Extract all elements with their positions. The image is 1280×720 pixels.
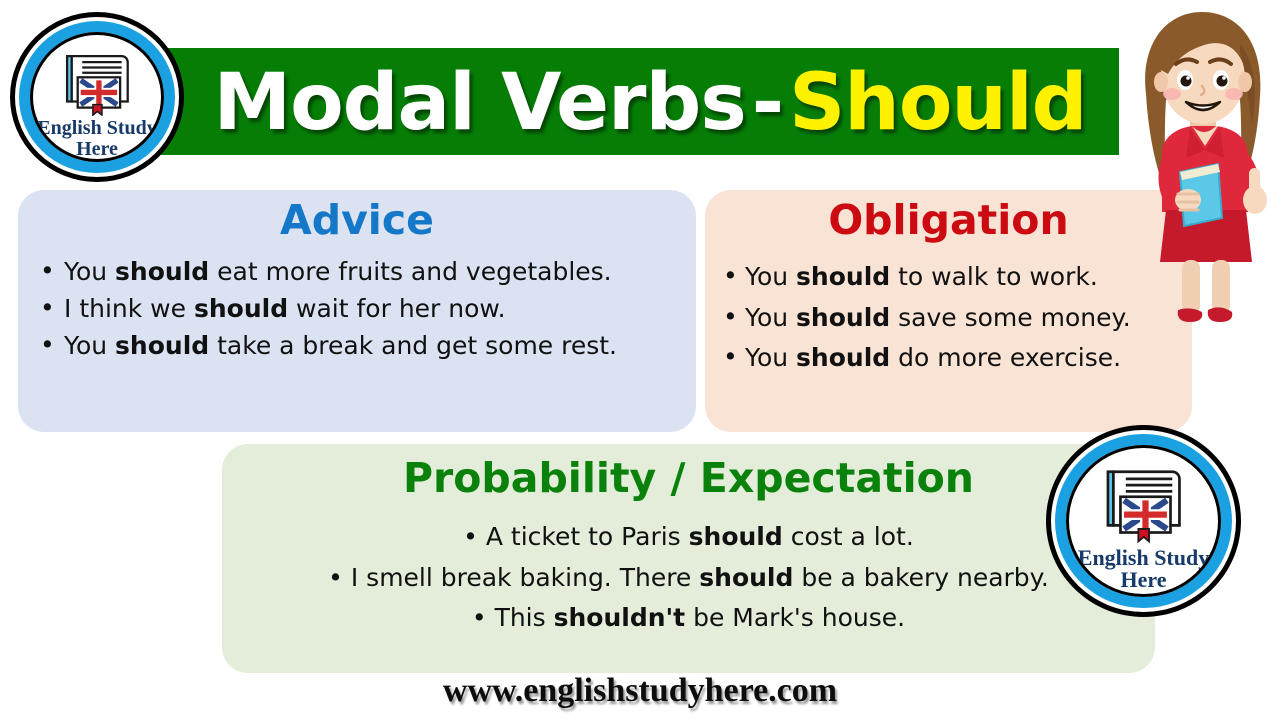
bullet-keyword: should [796,262,890,291]
logo-content: English Study Here [33,35,161,159]
bullet-text-pre: This [495,603,554,632]
card-probability-bullets: A ticket to Paris should cost a lot. I s… [222,517,1155,639]
footer-website: www.englishstudyhere.com [0,672,1280,710]
list-item: I think we should wait for her now. [34,292,696,326]
bullet-text-post: do more exercise. [890,343,1121,372]
logo-badge-top: English Study Here [10,12,184,182]
bullet-keyword: should [796,343,890,372]
bullet-keyword: should [699,563,793,592]
bullet-keyword: should [115,257,209,286]
list-item: You should do more exercise. [715,338,1192,379]
bullet-text-pre: You [745,262,796,291]
bullet-text-pre: You [64,257,115,286]
infographic-canvas: Modal Verbs - Should [0,0,1280,720]
list-item: A ticket to Paris should cost a lot. [222,517,1155,558]
card-advice-heading: Advice [18,200,696,241]
bullet-text-post: wait for her now. [288,294,505,323]
list-item: This shouldn't be Mark's house. [222,598,1155,639]
bullet-text-pre: A ticket to Paris [486,522,689,551]
bullet-text-post: take a break and get some rest. [209,331,617,360]
bullet-keyword: shouldn't [554,603,686,632]
bullet-text-pre: You [745,303,796,332]
card-advice: Advice You should eat more fruits and ve… [18,190,696,432]
book-with-uk-flag-icon [59,47,136,117]
bullet-text-post: be a bakery nearby. [793,563,1048,592]
list-item: You should eat more fruits and vegetable… [34,255,696,289]
page-title-separator: - [746,64,789,142]
card-obligation-heading: Obligation [705,200,1192,241]
card-obligation: Obligation You should to walk to work. Y… [705,190,1192,432]
page-title-main: Modal Verbs [213,64,745,142]
book-with-uk-flag-icon [1099,461,1188,543]
logo-text-line1: English Study [37,118,157,138]
bullet-keyword: should [796,303,890,332]
page-title-highlight: Should [789,64,1086,142]
bullet-text-post: save some money. [890,303,1130,332]
page-title: Modal Verbs - Should [190,44,1110,162]
list-item: You should take a break and get some res… [34,329,696,363]
bullet-text-pre: You [745,343,796,372]
card-advice-bullets: You should eat more fruits and vegetable… [34,255,696,363]
bullet-text-post: be Mark's house. [685,603,905,632]
bullet-text-post: to walk to work. [890,262,1098,291]
logo-badge-bottom: English Study Here [1046,425,1241,617]
bullet-text-post: cost a lot. [783,522,914,551]
logo-text-line1: English Study [1078,547,1209,569]
bullet-text-pre: You [64,331,115,360]
bullet-keyword: should [115,331,209,360]
list-item: You should save some money. [715,298,1192,339]
logo-content: English Study Here [1069,448,1218,594]
bullet-text-pre: I smell break baking. There [351,563,699,592]
teacher-character-illustration [1122,4,1280,334]
card-obligation-bullets: You should to walk to work. You should s… [715,257,1192,379]
bullet-text-post: eat more fruits and vegetables. [209,257,611,286]
list-item: I smell break baking. There should be a … [222,558,1155,599]
card-probability-heading: Probability / Expectation [222,458,1155,499]
bullet-keyword: should [689,522,783,551]
card-probability-expectation: Probability / Expectation A ticket to Pa… [222,444,1155,673]
bullet-text-pre: I think we [64,294,194,323]
list-item: You should to walk to work. [715,257,1192,298]
bullet-keyword: should [194,294,288,323]
